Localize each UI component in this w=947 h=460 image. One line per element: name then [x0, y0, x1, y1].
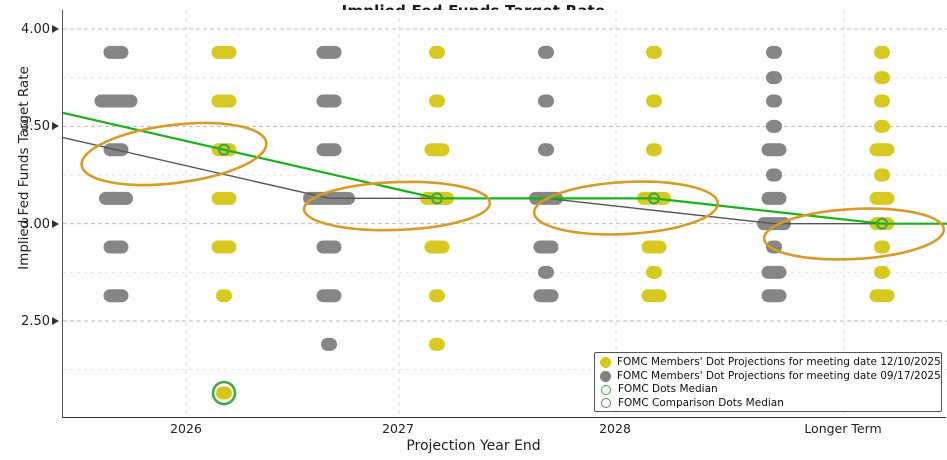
y-tick-mark: [52, 317, 59, 325]
x-tick-label-2028: 2028: [579, 421, 651, 436]
x-tick-label-2026: 2026: [150, 421, 222, 436]
y-tick-mark: [52, 122, 59, 130]
legend-swatch-comparison-dots: [600, 371, 611, 382]
annotation-ellipses-group: [78, 114, 945, 264]
legend: FOMC Members' Dot Projections for meetin…: [594, 352, 942, 412]
legend-item-comparison[interactable]: FOMC Members' Dot Projections for meetin…: [600, 370, 936, 384]
legend-label-comparison-median: FOMC Comparison Dots Median: [618, 398, 784, 409]
y-tick-label: 3.50: [2, 119, 50, 134]
y-tick-label: 2.50: [2, 314, 50, 329]
legend-swatch-median: [601, 385, 611, 395]
x-tick-label-2027: 2027: [362, 421, 434, 436]
legend-swatch-current-dots: [600, 357, 611, 368]
y-tick-label: 4.00: [2, 22, 50, 37]
legend-swatch-comparison-median: [601, 398, 611, 408]
y-tick-mark: [52, 220, 59, 228]
x-axis-label: Projection Year End: [0, 438, 947, 454]
legend-item-comparison-median[interactable]: FOMC Comparison Dots Median: [600, 397, 936, 411]
legend-label-current-dots: FOMC Members' Dot Projections for meetin…: [617, 357, 941, 368]
legend-item-current[interactable]: FOMC Members' Dot Projections for meetin…: [600, 356, 936, 370]
x-tick-label-longer-term: Longer Term: [788, 421, 898, 436]
y-tick-label: 3.00: [2, 217, 50, 232]
legend-item-median[interactable]: FOMC Dots Median: [600, 383, 936, 397]
y-tick-mark: [52, 25, 59, 33]
legend-label-comparison-dots: FOMC Members' Dot Projections for meetin…: [617, 371, 941, 382]
legend-label-median: FOMC Dots Median: [618, 384, 718, 395]
y-axis-ticks: 4.00 3.50 3.00 2.50: [0, 0, 62, 460]
chart-container: Implied Fed Funds Target Rate Implied Fe…: [0, 0, 947, 460]
